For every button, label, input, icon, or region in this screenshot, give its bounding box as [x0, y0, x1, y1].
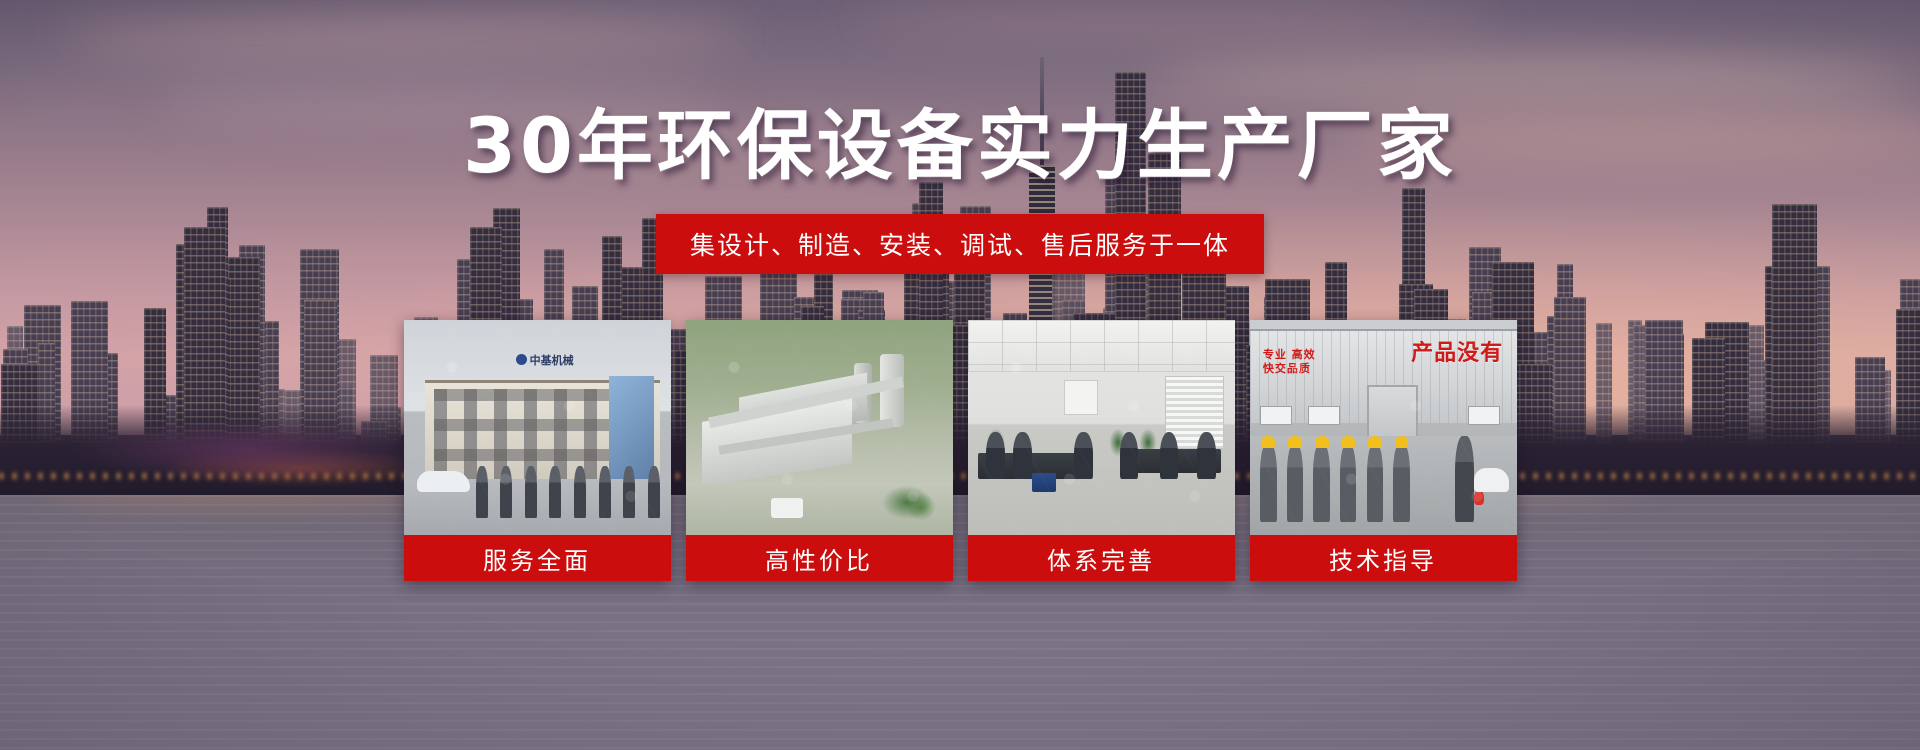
card-photo-office-building: 中基机械: [404, 320, 671, 535]
banner-subtitle-badge: 集设计、制造、安装、调试、售后服务于一体: [656, 214, 1264, 274]
watermark-overlay: [968, 320, 1235, 535]
watermark-overlay: [1250, 320, 1517, 535]
watermark-overlay: [404, 320, 671, 535]
card-caption: 服务全面: [404, 535, 671, 581]
hero-banner: 30年环保设备实力生产厂家 集设计、制造、安装、调试、售后服务于一体 中基机械 …: [0, 0, 1920, 750]
card-caption: 体系完善: [968, 535, 1235, 581]
banner-headline: 30年环保设备实力生产厂家: [463, 108, 1457, 184]
feature-card[interactable]: 高性价比: [686, 320, 953, 581]
card-photo-factory-yard: 产品没有 专业 高效快交品质: [1250, 320, 1517, 535]
feature-card[interactable]: 体系完善: [968, 320, 1235, 581]
feature-card[interactable]: 中基机械 服务全面: [404, 320, 671, 581]
card-photo-office-interior: [968, 320, 1235, 535]
feature-card[interactable]: 产品没有 专业 高效快交品质 技术指导: [1250, 320, 1517, 581]
watermark-overlay: [686, 320, 953, 535]
banner-content: 30年环保设备实力生产厂家 集设计、制造、安装、调试、售后服务于一体 中基机械 …: [0, 0, 1920, 750]
card-caption: 高性价比: [686, 535, 953, 581]
card-photo-industrial-plant: [686, 320, 953, 535]
card-caption: 技术指导: [1250, 535, 1517, 581]
feature-card-list: 中基机械 服务全面 高性价比: [404, 320, 1517, 581]
